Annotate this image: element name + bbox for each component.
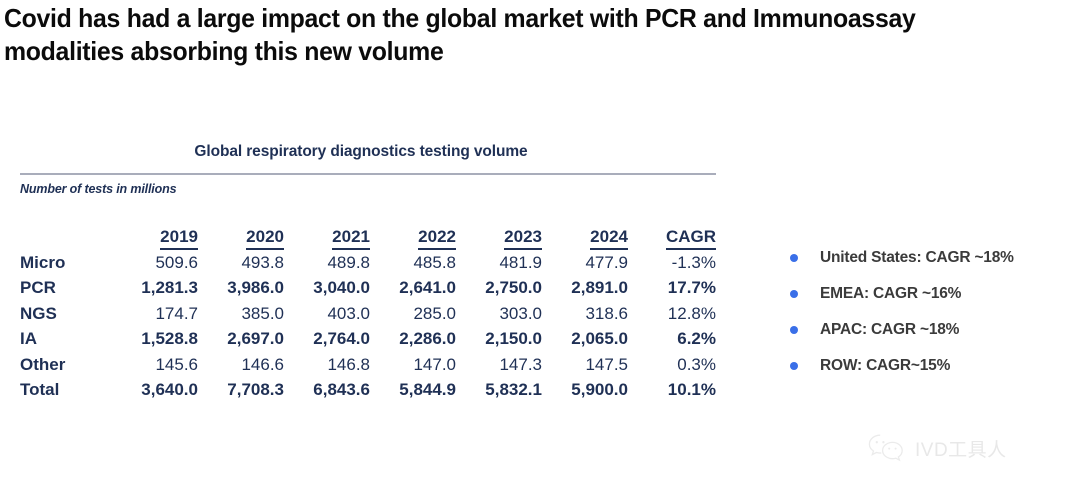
table-body: Micro 509.6 493.8 489.8 485.8 481.9 477.… [20,250,716,403]
row-label-ia: IA [20,327,112,353]
table-header: 2019 2020 2021 2022 2023 2024 CAGR [20,220,716,250]
list-item: APAC: CAGR ~18% [790,312,1080,348]
table-row: PCR 1,281.3 3,986.0 3,040.0 2,641.0 2,75… [20,276,716,302]
page-title: Covid has had a large impact on the glob… [4,2,978,68]
cell-micro-cagr: -1.3% [628,250,716,276]
list-item: EMEA: CAGR ~16% [790,276,1080,312]
cell-ngs-2023: 303.0 [456,301,542,327]
bullet-dot-icon [790,290,798,298]
cell-other-2024: 147.5 [542,352,628,378]
panel-subtitle: Number of tests in millions [20,182,720,196]
cell-micro-2023: 481.9 [456,250,542,276]
cell-ngs-2024: 318.6 [542,301,628,327]
cell-ngs-2022: 285.0 [370,301,456,327]
cell-total-2022: 5,844.9 [370,378,456,404]
column-header-cagr: CAGR [628,220,716,250]
cell-other-cagr: 0.3% [628,352,716,378]
cell-pcr-2024: 2,891.0 [542,276,628,302]
bullet-dot-icon [790,362,798,370]
cell-total-2023: 5,832.1 [456,378,542,404]
cell-ia-2022: 2,286.0 [370,327,456,353]
row-label-ngs: NGS [20,301,112,327]
cell-ia-2020: 2,697.0 [198,327,284,353]
row-label-micro: Micro [20,250,112,276]
cell-other-2023: 147.3 [456,352,542,378]
cell-ia-cagr: 6.2% [628,327,716,353]
column-header-2023: 2023 [456,220,542,250]
panel-title: Global respiratory diagnostics testing v… [20,143,720,161]
cell-ngs-2019: 174.7 [112,301,198,327]
cell-other-2020: 146.6 [198,352,284,378]
cell-ia-2019: 1,528.8 [112,327,198,353]
cell-ngs-2021: 403.0 [284,301,370,327]
table-header-row: 2019 2020 2021 2022 2023 2024 CAGR [20,220,716,250]
cell-other-2019: 145.6 [112,352,198,378]
cell-ngs-cagr: 12.8% [628,301,716,327]
column-header-label [20,220,112,250]
cell-pcr-2021: 3,040.0 [284,276,370,302]
list-item: ROW: CAGR~15% [790,348,1080,384]
wechat-icon [866,432,908,464]
cell-micro-2021: 489.8 [284,250,370,276]
watermark: IVD工具人 [866,432,1007,464]
row-label-other: Other [20,352,112,378]
cell-total-cagr: 10.1% [628,378,716,404]
cell-pcr-2022: 2,641.0 [370,276,456,302]
volume-table: 2019 2020 2021 2022 2023 2024 CAGR Micro… [20,220,716,403]
table-row: NGS 174.7 385.0 403.0 285.0 303.0 318.6 … [20,301,716,327]
bullet-label-row: ROW: CAGR~15% [820,357,950,375]
cell-other-2021: 146.8 [284,352,370,378]
bullet-label-apac: APAC: CAGR ~18% [820,321,959,339]
cell-pcr-2019: 1,281.3 [112,276,198,302]
cell-total-2019: 3,640.0 [112,378,198,404]
column-header-2020: 2020 [198,220,284,250]
cell-ia-2024: 2,065.0 [542,327,628,353]
panel-divider [20,173,716,175]
column-header-2021: 2021 [284,220,370,250]
row-label-total: Total [20,378,112,404]
cell-ia-2023: 2,150.0 [456,327,542,353]
bullet-label-emea: EMEA: CAGR ~16% [820,285,961,303]
column-header-2022: 2022 [370,220,456,250]
cell-pcr-2020: 3,986.0 [198,276,284,302]
list-item: United States: CAGR ~18% [790,240,1080,276]
column-header-2019: 2019 [112,220,198,250]
cell-ia-2021: 2,764.0 [284,327,370,353]
table-row: Micro 509.6 493.8 489.8 485.8 481.9 477.… [20,250,716,276]
cell-total-2024: 5,900.0 [542,378,628,404]
table-row-total: Total 3,640.0 7,708.3 6,843.6 5,844.9 5,… [20,378,716,404]
cell-total-2021: 6,843.6 [284,378,370,404]
cell-total-2020: 7,708.3 [198,378,284,404]
volume-table-panel: Global respiratory diagnostics testing v… [20,143,720,403]
cell-micro-2020: 493.8 [198,250,284,276]
cell-other-2022: 147.0 [370,352,456,378]
cell-pcr-cagr: 17.7% [628,276,716,302]
regional-cagr-list: United States: CAGR ~18% EMEA: CAGR ~16%… [790,240,1080,384]
cell-pcr-2023: 2,750.0 [456,276,542,302]
cell-micro-2024: 477.9 [542,250,628,276]
bullet-label-united-states: United States: CAGR ~18% [820,249,1014,267]
table-row: IA 1,528.8 2,697.0 2,764.0 2,286.0 2,150… [20,327,716,353]
cell-micro-2019: 509.6 [112,250,198,276]
bullet-dot-icon [790,326,798,334]
cell-micro-2022: 485.8 [370,250,456,276]
table-row: Other 145.6 146.6 146.8 147.0 147.3 147.… [20,352,716,378]
watermark-text: IVD工具人 [915,435,1007,462]
cell-ngs-2020: 385.0 [198,301,284,327]
bullet-dot-icon [790,254,798,262]
column-header-2024: 2024 [542,220,628,250]
row-label-pcr: PCR [20,276,112,302]
